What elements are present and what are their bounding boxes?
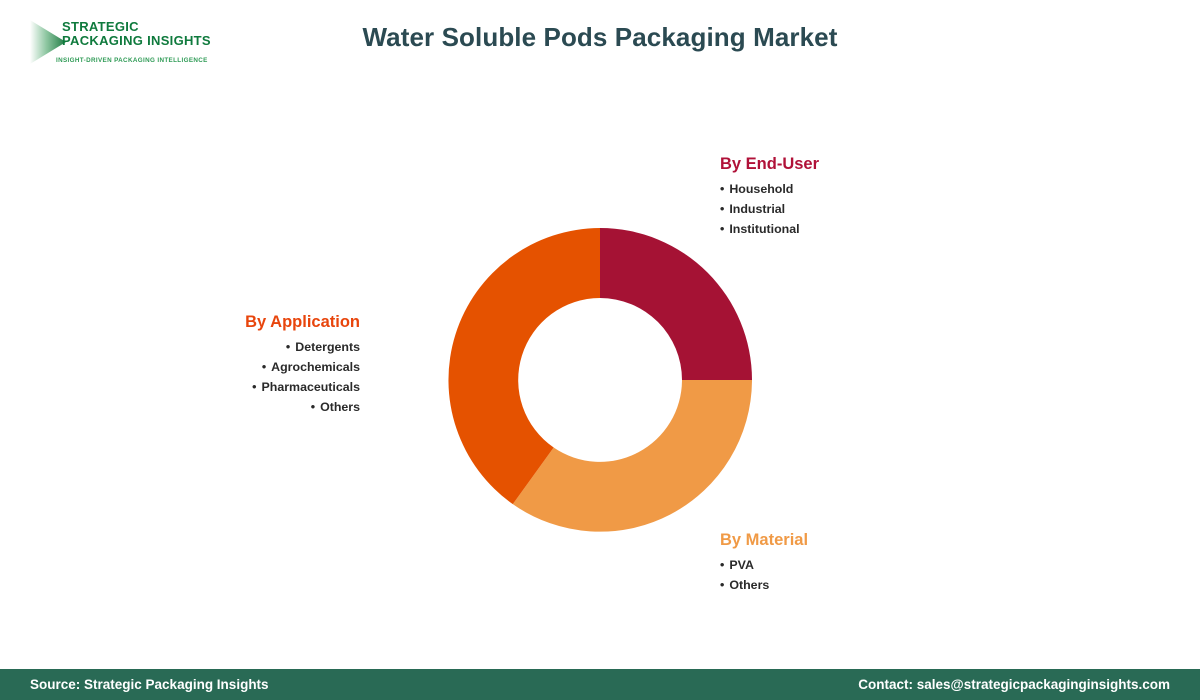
donut-chart	[448, 228, 752, 532]
footer-contact[interactable]: Contact: sales@strategicpackaginginsight…	[858, 677, 1170, 692]
donut-segment-end-user[interactable]	[600, 228, 752, 380]
list-item: Others	[245, 397, 360, 417]
donut-segment-material[interactable]	[513, 380, 752, 532]
list-item: Institutional	[720, 219, 819, 239]
list-item: Household	[720, 179, 819, 199]
logo-tagline: INSIGHT-DRIVEN PACKAGING INTELLIGENCE	[56, 57, 208, 64]
list-item: Agrochemicals	[245, 357, 360, 377]
segment-heading-application: By Application	[245, 313, 360, 332]
segment-heading-end-user: By End-User	[720, 155, 819, 174]
list-item: PVA	[720, 555, 808, 575]
footer-bar: Source: Strategic Packaging Insights Con…	[0, 669, 1200, 700]
list-item: Others	[720, 575, 808, 595]
list-item: Pharmaceuticals	[245, 377, 360, 397]
segment-block-material: By Material PVA Others	[720, 531, 808, 595]
segment-list-material: PVA Others	[720, 555, 808, 595]
segment-block-application: By Application Detergents Agrochemicals …	[245, 313, 360, 417]
list-item: Detergents	[245, 337, 360, 357]
page-title: Water Soluble Pods Packaging Market	[0, 22, 1200, 53]
segment-heading-material: By Material	[720, 531, 808, 550]
segment-block-end-user: By End-User Household Industrial Institu…	[720, 155, 819, 239]
segment-list-application: Detergents Agrochemicals Pharmaceuticals…	[245, 337, 360, 417]
list-item: Industrial	[720, 199, 819, 219]
segment-list-end-user: Household Industrial Institutional	[720, 179, 819, 239]
donut-chart-svg	[448, 228, 752, 532]
footer-source: Source: Strategic Packaging Insights	[30, 677, 269, 692]
